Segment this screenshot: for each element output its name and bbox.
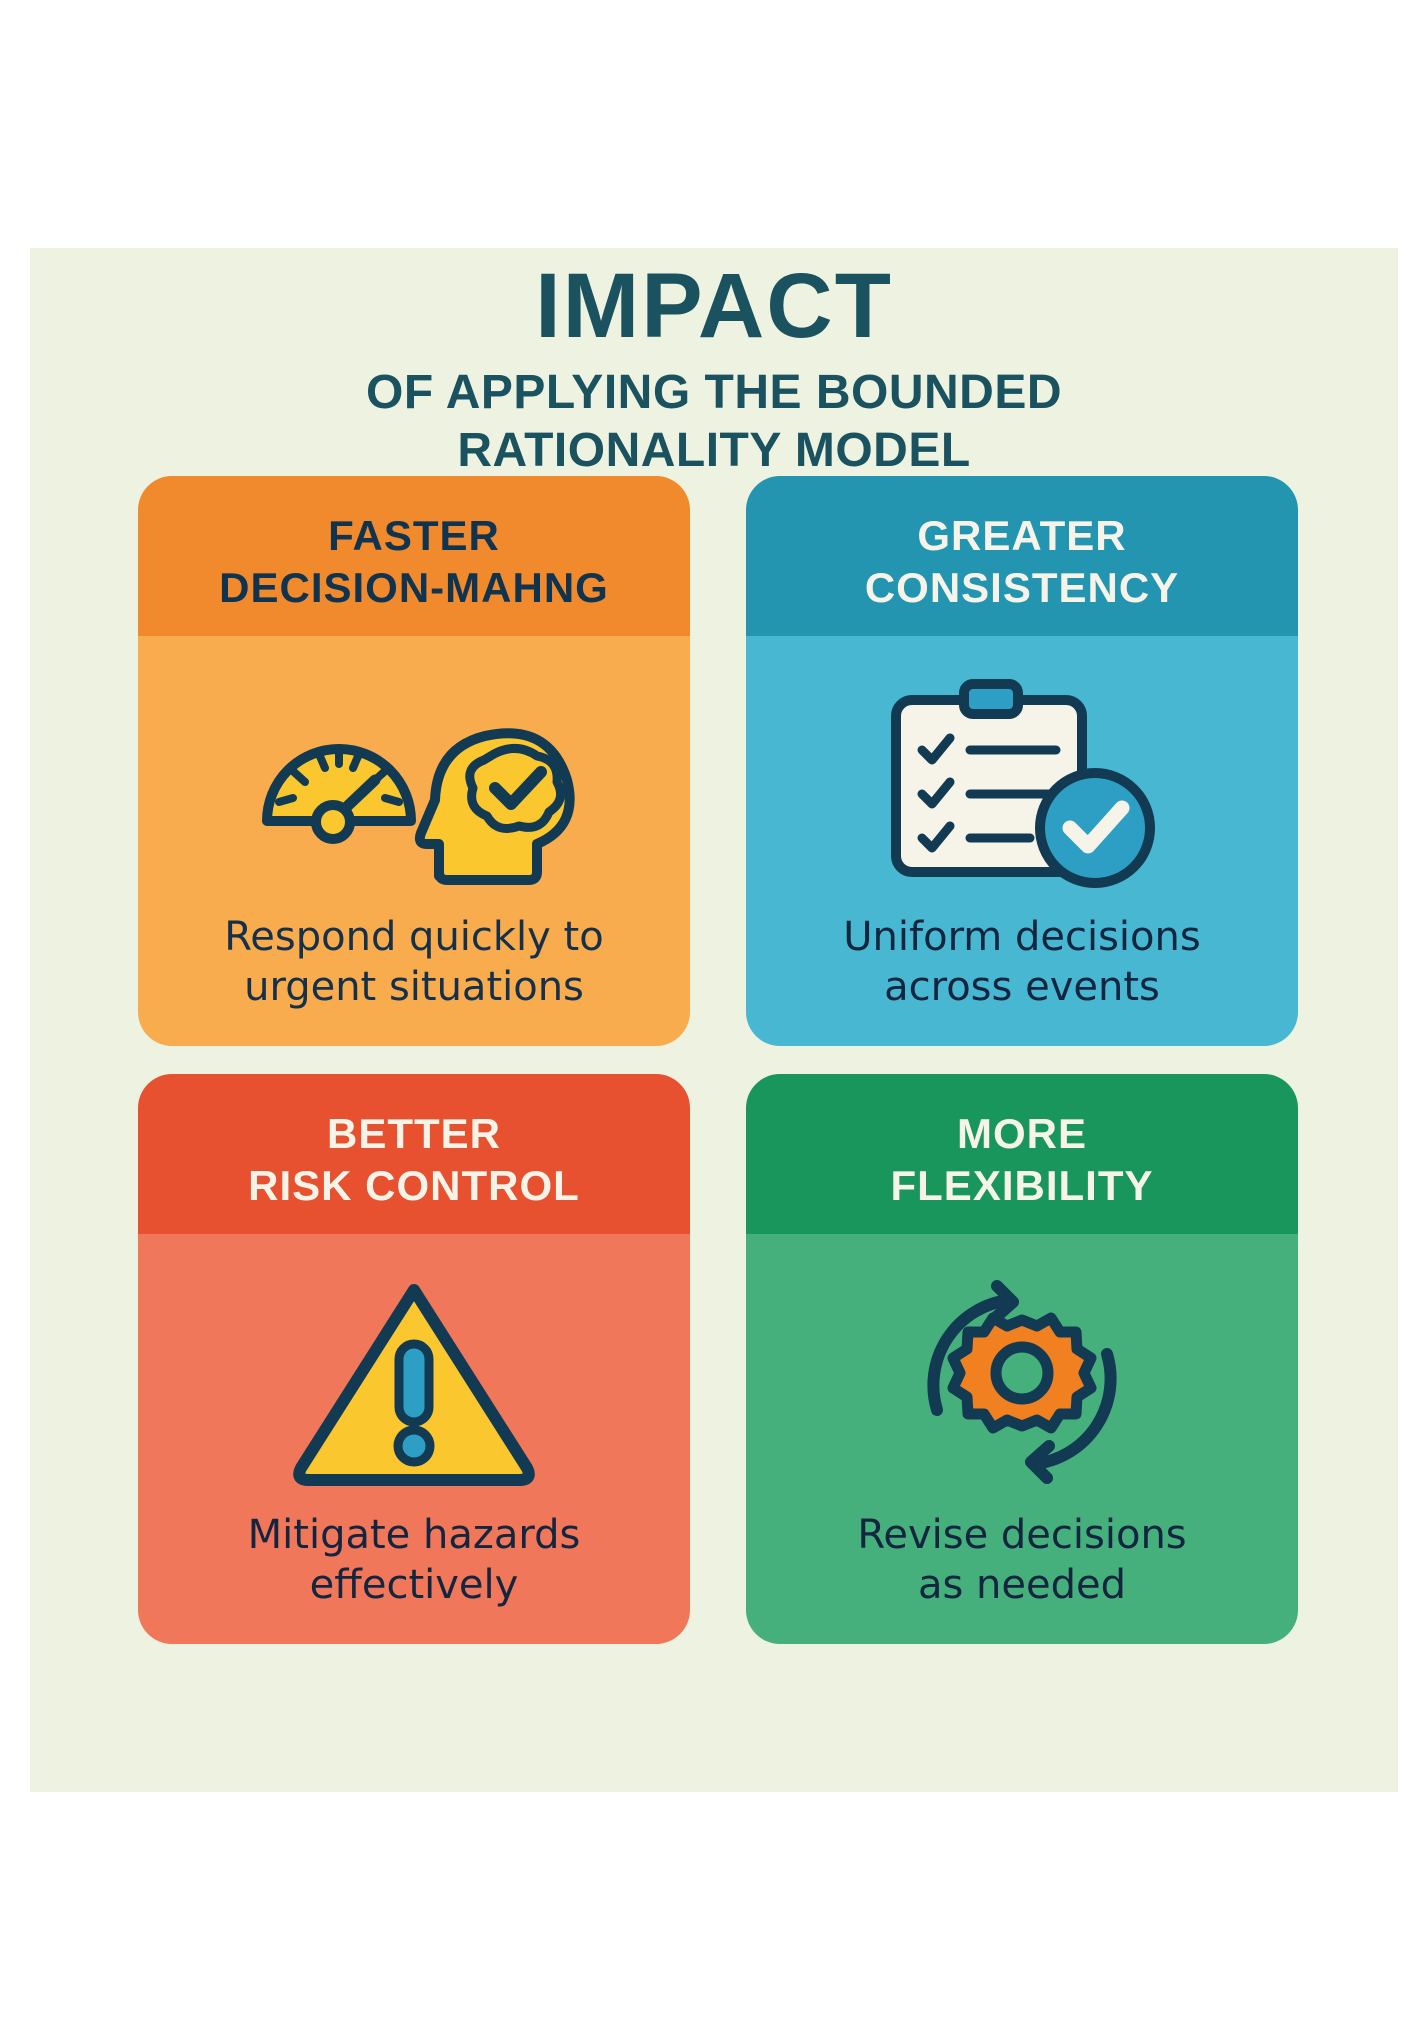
card-body-better-risk-control: Mitigate hazards effectively	[138, 1234, 690, 1644]
page-subtitle: OF APPLYING THE BOUNDED RATIONALITY MODE…	[30, 354, 1398, 480]
caption-line-1: Revise decisions	[857, 1510, 1186, 1560]
warning-triangle-icon	[289, 1274, 539, 1489]
caption-line-1: Mitigate hazards	[248, 1510, 581, 1560]
infographic-poster: IMPACT OF APPLYING THE BOUNDED RATIONALI…	[30, 248, 1398, 1792]
caption-line-2: effectively	[248, 1560, 581, 1610]
card-title-line-1: MORE	[764, 1108, 1280, 1160]
card-better-risk-control[interactable]: BETTER RISK CONTROL Mitigate hazards eff…	[138, 1074, 690, 1644]
card-title-line-2: CONSISTENCY	[764, 562, 1280, 614]
card-header-better-risk-control: BETTER RISK CONTROL	[138, 1074, 690, 1234]
card-caption-more-flexibility: Revise decisions as needed	[857, 1510, 1186, 1610]
icon-container	[766, 1252, 1278, 1510]
poster-page: IMPACT OF APPLYING THE BOUNDED RATIONALI…	[0, 0, 1428, 2028]
card-header-greater-consistency: GREATER CONSISTENCY	[746, 476, 1298, 636]
card-title-line-2: DECISION-MAHNG	[156, 562, 672, 614]
subtitle-line-1: OF APPLYING THE BOUNDED	[30, 364, 1398, 422]
card-caption-greater-consistency: Uniform decisions across events	[843, 912, 1200, 1012]
card-title-line-1: BETTER	[156, 1108, 672, 1160]
card-faster-decision-making[interactable]: FASTER DECISION-MAHNG	[138, 476, 690, 1046]
caption-line-1: Respond quickly to	[224, 912, 603, 962]
card-title-line-1: GREATER	[764, 510, 1280, 562]
card-body-greater-consistency: Uniform decisions across events	[746, 636, 1298, 1046]
card-caption-better-risk-control: Mitigate hazards effectively	[248, 1510, 581, 1610]
caption-line-2: urgent situations	[224, 962, 603, 1012]
subtitle-line-2: RATIONALITY MODEL	[30, 422, 1398, 480]
card-title-line-2: RISK CONTROL	[156, 1160, 672, 1212]
icon-container	[158, 1252, 670, 1510]
card-body-more-flexibility: Revise decisions as needed	[746, 1234, 1298, 1644]
card-body-faster-decision-making: Respond quickly to urgent situations	[138, 636, 690, 1046]
icon-container	[158, 654, 670, 912]
caption-line-1: Uniform decisions	[843, 912, 1200, 962]
impact-card-grid: FASTER DECISION-MAHNG	[138, 476, 1298, 1644]
page-title: IMPACT	[30, 248, 1398, 354]
speedometer-brain-icon	[249, 676, 579, 891]
card-title-line-1: FASTER	[156, 510, 672, 562]
icon-container	[766, 654, 1278, 912]
card-more-flexibility[interactable]: MORE FLEXIBILITY	[746, 1074, 1298, 1644]
card-title-line-2: FLEXIBILITY	[764, 1160, 1280, 1212]
gear-refresh-icon	[897, 1274, 1147, 1489]
caption-line-2: across events	[843, 962, 1200, 1012]
card-caption-faster-decision-making: Respond quickly to urgent situations	[224, 912, 603, 1012]
clipboard-checkmark-icon	[872, 676, 1172, 891]
caption-line-2: as needed	[857, 1560, 1186, 1610]
card-header-more-flexibility: MORE FLEXIBILITY	[746, 1074, 1298, 1234]
card-greater-consistency[interactable]: GREATER CONSISTENCY	[746, 476, 1298, 1046]
card-header-faster-decision-making: FASTER DECISION-MAHNG	[138, 476, 690, 636]
poster-heading: IMPACT OF APPLYING THE BOUNDED RATIONALI…	[30, 248, 1398, 480]
